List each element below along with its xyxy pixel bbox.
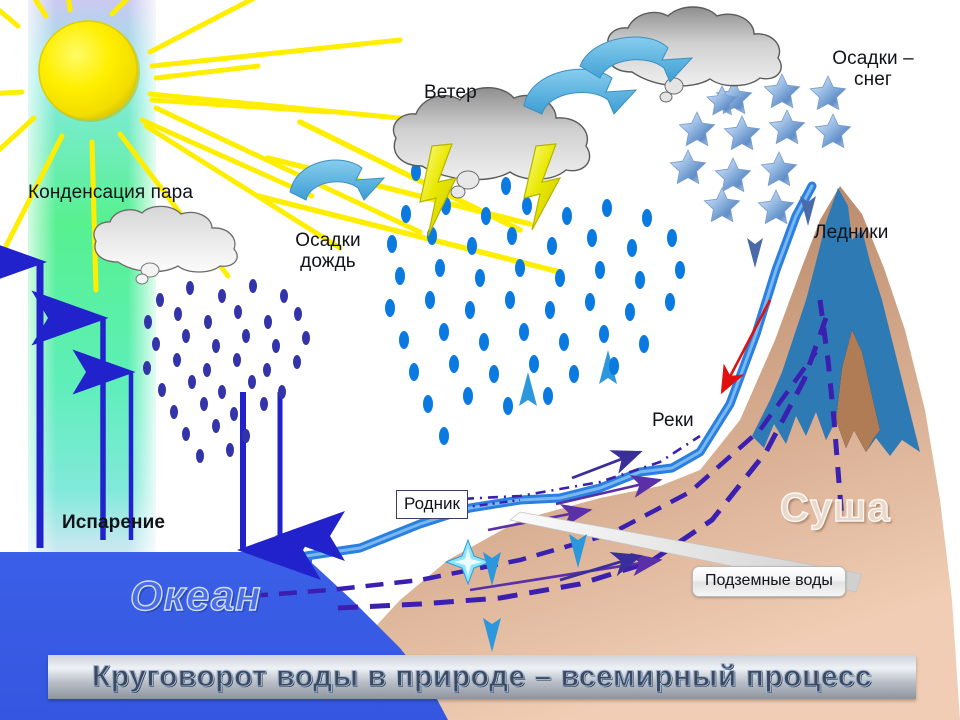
label-evaporation: Испарение bbox=[62, 512, 165, 533]
river-evaporation-arrows bbox=[528, 370, 608, 474]
label-precipitation-snow: Осадки – снег bbox=[812, 48, 934, 91]
label-precipitation-rain: Осадки дождь bbox=[280, 230, 376, 273]
rain-drops-left-group bbox=[143, 279, 310, 463]
left-rain-down-arrows bbox=[243, 392, 280, 550]
sun-icon bbox=[39, 21, 140, 122]
title-banner-text: Круговорот воды в природе – всемирный пр… bbox=[48, 655, 916, 699]
label-groundwater-pill: Подземные воды bbox=[692, 566, 846, 597]
water-cycle-diagram: Конденсация пара Испарение Осадки дождь … bbox=[0, 0, 960, 720]
label-ocean: Океан bbox=[130, 572, 262, 620]
label-glaciers: Ледники bbox=[814, 222, 888, 243]
wind-swoosh-icon bbox=[524, 69, 636, 114]
label-wind: Ветер bbox=[424, 82, 477, 103]
label-rivers: Реки bbox=[652, 410, 694, 431]
label-land: Суша bbox=[780, 486, 891, 531]
label-condensation: Конденсация пара bbox=[28, 182, 193, 203]
title-banner: Круговорот воды в природе – всемирный пр… bbox=[48, 655, 916, 699]
label-spring-box: Родник bbox=[396, 490, 468, 519]
